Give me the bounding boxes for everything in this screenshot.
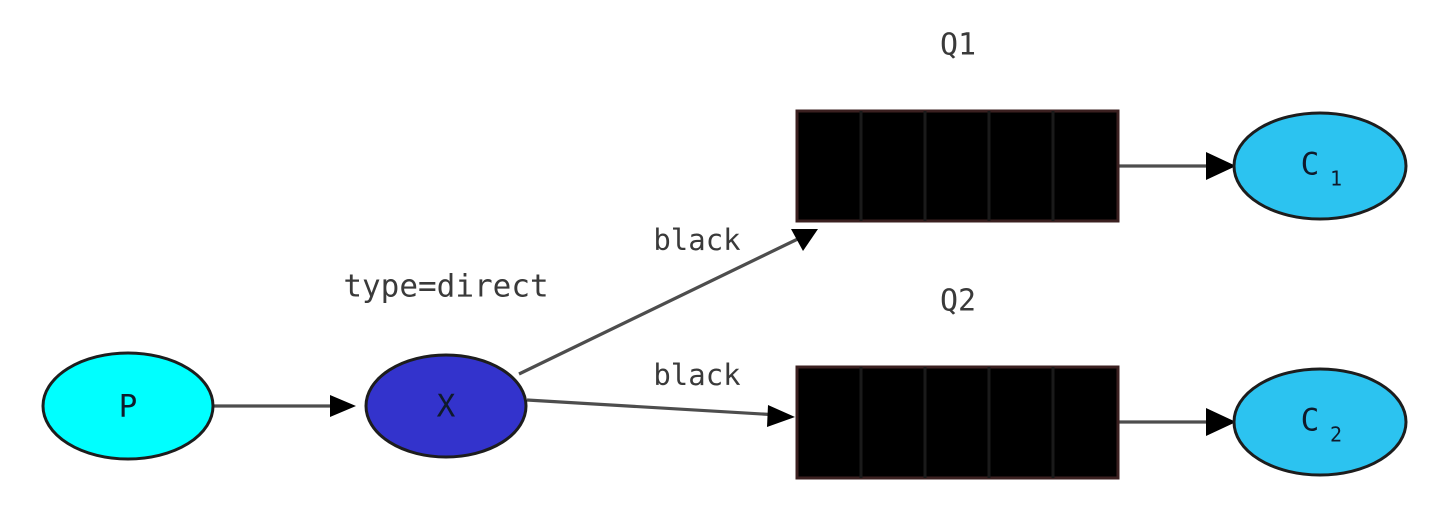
routing-diagram-svg: black black Q1 xyxy=(0,0,1430,508)
edge-q1-to-c1 xyxy=(1118,152,1236,180)
exchange-node[interactable]: type=direct X xyxy=(343,269,548,458)
consumer-c1-label: C xyxy=(1301,147,1320,183)
diagram-canvas: black black Q1 xyxy=(0,0,1430,508)
queue-q2-box[interactable] xyxy=(797,367,1118,478)
edge-producer-to-exchange xyxy=(214,395,356,417)
consumer-c2-label: C xyxy=(1301,403,1320,439)
queue-q1[interactable]: Q1 xyxy=(797,28,1118,222)
edge-producer-to-exchange-arrowhead xyxy=(330,395,356,417)
queue-q1-box[interactable] xyxy=(797,111,1118,221)
producer-node[interactable]: P xyxy=(43,353,213,459)
queue-q1-label: Q1 xyxy=(940,28,976,63)
queue-q2-label: Q2 xyxy=(940,284,976,319)
exchange-label: X xyxy=(437,389,456,425)
edge-exchange-to-q1: black xyxy=(519,223,818,374)
consumer-c2-subscript: 2 xyxy=(1330,423,1342,447)
edge-label-binding-key-q1: black xyxy=(653,223,741,257)
producer-label: P xyxy=(119,389,138,425)
exchange-type-label: type=direct xyxy=(343,269,548,305)
queue-q2[interactable]: Q2 xyxy=(797,284,1118,479)
consumer-c2-ellipse[interactable] xyxy=(1234,369,1406,475)
edge-q2-to-c2 xyxy=(1118,408,1236,436)
edge-exchange-to-q2-line xyxy=(527,400,779,415)
edge-q1-to-c1-arrowhead xyxy=(1206,152,1236,180)
edge-exchange-to-q2-arrowhead xyxy=(767,405,795,427)
consumer-c1-subscript: 1 xyxy=(1330,167,1342,191)
edge-exchange-to-q2: black xyxy=(527,358,795,427)
consumer-c1-ellipse[interactable] xyxy=(1234,113,1406,219)
edge-q2-to-c2-arrowhead xyxy=(1206,408,1236,436)
consumer-c2-node[interactable]: C 2 xyxy=(1234,369,1406,475)
edge-label-binding-key-q2: black xyxy=(653,358,741,392)
consumer-c1-node[interactable]: C 1 xyxy=(1234,113,1406,219)
